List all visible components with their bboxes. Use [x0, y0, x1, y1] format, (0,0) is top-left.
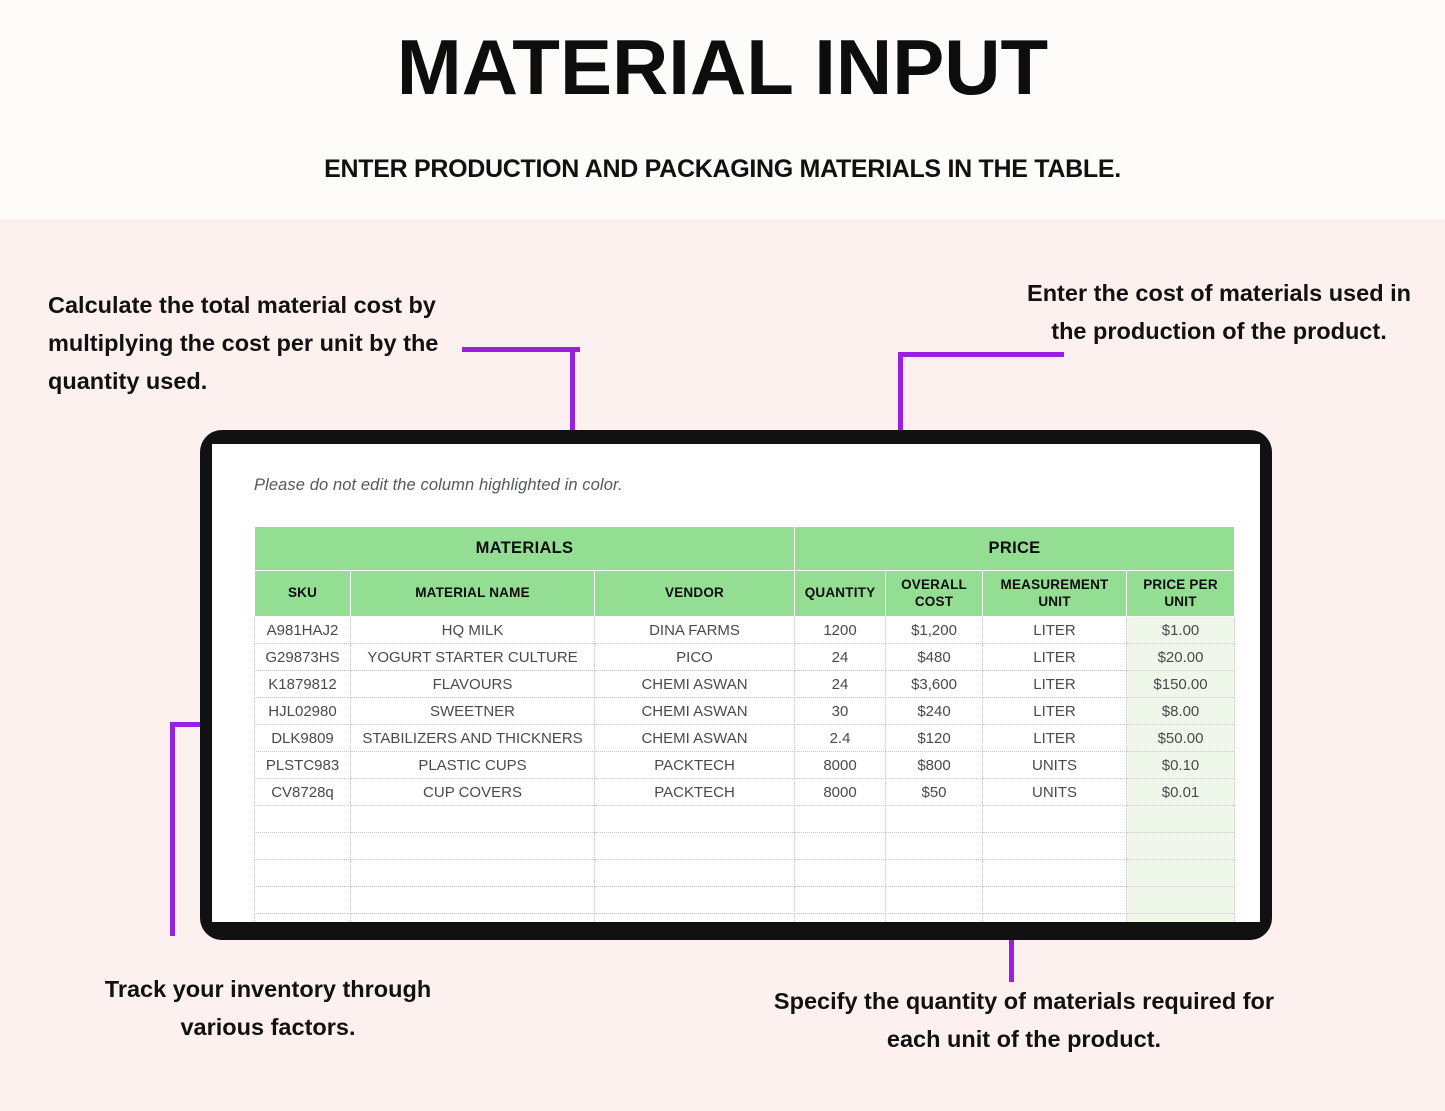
cell-material-name[interactable]: STABILIZERS AND THICKNERS — [351, 725, 595, 752]
table-column-header-row: SKU MATERIAL NAME VENDOR QUANTITY OVERAL… — [255, 571, 1235, 617]
connector-top-left-horizontal — [462, 347, 580, 352]
group-header-price: PRICE — [795, 527, 1235, 571]
table-head: MATERIALS PRICE SKU MATERIAL NAME VENDOR… — [255, 527, 1235, 617]
cell-overall-cost[interactable]: $50 — [886, 779, 983, 806]
cell-overall-cost[interactable]: $240 — [886, 698, 983, 725]
cell-material-name[interactable]: HQ MILK — [351, 617, 595, 644]
cell-quantity[interactable]: 8000 — [795, 752, 886, 779]
cell-vendor[interactable]: PACKTECH — [595, 779, 795, 806]
cell-price-per-unit[interactable]: $50.00 — [1127, 725, 1235, 752]
callout-bottom-left: Track your inventory through various fac… — [60, 970, 476, 1046]
table-body[interactable]: A981HAJ2HQ MILKDINA FARMS1200$1,200LITER… — [255, 617, 1235, 923]
cell-sku[interactable]: DLK9809 — [255, 725, 351, 752]
cell-empty[interactable] — [1127, 833, 1235, 860]
cell-vendor[interactable]: PACKTECH — [595, 752, 795, 779]
group-header-materials: MATERIALS — [255, 527, 795, 571]
cell-empty[interactable] — [595, 806, 795, 833]
cell-empty[interactable] — [886, 914, 983, 923]
callout-top-left: Calculate the total material cost by mul… — [48, 286, 448, 400]
table-row[interactable]: CV8728qCUP COVERSPACKTECH8000$50UNITS$0.… — [255, 779, 1235, 806]
cell-empty[interactable] — [351, 887, 595, 914]
cell-sku[interactable]: G29873HS — [255, 644, 351, 671]
cell-overall-cost[interactable]: $480 — [886, 644, 983, 671]
callout-bottom-right: Specify the quantity of materials requir… — [770, 982, 1278, 1058]
cell-empty[interactable] — [795, 887, 886, 914]
table-row[interactable]: G29873HSYOGURT STARTER CULTUREPICO24$480… — [255, 644, 1235, 671]
cell-quantity[interactable]: 24 — [795, 671, 886, 698]
column-header-vendor[interactable]: VENDOR — [595, 571, 795, 617]
cell-empty[interactable] — [1127, 806, 1235, 833]
cell-empty[interactable] — [795, 806, 886, 833]
spreadsheet-screen[interactable]: Please do not edit the column highlighte… — [212, 444, 1260, 922]
table-row-empty[interactable] — [255, 833, 1235, 860]
column-header-quantity[interactable]: QUANTITY — [795, 571, 886, 617]
connector-bottom-left-vertical — [170, 722, 175, 936]
cell-empty[interactable] — [983, 860, 1127, 887]
cell-empty[interactable] — [255, 860, 351, 887]
column-header-overall-cost[interactable]: OVERALL COST — [886, 571, 983, 617]
cell-empty[interactable] — [351, 806, 595, 833]
cell-empty[interactable] — [1127, 860, 1235, 887]
cell-measurement-unit[interactable]: LITER — [983, 644, 1127, 671]
cell-empty[interactable] — [1127, 914, 1235, 923]
cell-vendor[interactable]: CHEMI ASWAN — [595, 671, 795, 698]
cell-price-per-unit[interactable]: $1.00 — [1127, 617, 1235, 644]
materials-table[interactable]: MATERIALS PRICE SKU MATERIAL NAME VENDOR… — [254, 526, 1235, 922]
cell-measurement-unit[interactable]: UNITS — [983, 752, 1127, 779]
cell-quantity[interactable]: 24 — [795, 644, 886, 671]
cell-empty[interactable] — [983, 833, 1127, 860]
cell-sku[interactable]: K1879812 — [255, 671, 351, 698]
cell-overall-cost[interactable]: $3,600 — [886, 671, 983, 698]
table-row[interactable]: DLK9809STABILIZERS AND THICKNERSCHEMI AS… — [255, 725, 1235, 752]
cell-material-name[interactable]: YOGURT STARTER CULTURE — [351, 644, 595, 671]
cell-empty[interactable] — [1127, 887, 1235, 914]
cell-price-per-unit[interactable]: $0.10 — [1127, 752, 1235, 779]
cell-measurement-unit[interactable]: LITER — [983, 698, 1127, 725]
cell-vendor[interactable]: CHEMI ASWAN — [595, 725, 795, 752]
cell-empty[interactable] — [595, 914, 795, 923]
device-frame: Please do not edit the column highlighte… — [200, 430, 1272, 940]
cell-overall-cost[interactable]: $800 — [886, 752, 983, 779]
table-group-header-row: MATERIALS PRICE — [255, 527, 1235, 571]
cell-empty[interactable] — [795, 914, 886, 923]
cell-empty[interactable] — [595, 860, 795, 887]
table-row[interactable]: HJL02980SWEETNERCHEMI ASWAN30$240LITER$8… — [255, 698, 1235, 725]
cell-empty[interactable] — [595, 833, 795, 860]
cell-material-name[interactable]: PLASTIC CUPS — [351, 752, 595, 779]
page-subtitle: ENTER PRODUCTION AND PACKAGING MATERIALS… — [0, 155, 1445, 184]
cell-overall-cost[interactable]: $1,200 — [886, 617, 983, 644]
cell-sku[interactable]: HJL02980 — [255, 698, 351, 725]
cell-price-per-unit[interactable]: $20.00 — [1127, 644, 1235, 671]
cell-measurement-unit[interactable]: UNITS — [983, 779, 1127, 806]
cell-vendor[interactable]: CHEMI ASWAN — [595, 698, 795, 725]
cell-overall-cost[interactable]: $120 — [886, 725, 983, 752]
cell-sku[interactable]: PLSTC983 — [255, 752, 351, 779]
cell-price-per-unit[interactable]: $8.00 — [1127, 698, 1235, 725]
cell-material-name[interactable]: FLAVOURS — [351, 671, 595, 698]
cell-material-name[interactable]: CUP COVERS — [351, 779, 595, 806]
cell-empty[interactable] — [255, 914, 351, 923]
cell-vendor[interactable]: DINA FARMS — [595, 617, 795, 644]
cell-empty[interactable] — [983, 806, 1127, 833]
table-row-empty[interactable] — [255, 887, 1235, 914]
cell-empty[interactable] — [983, 887, 1127, 914]
cell-empty[interactable] — [595, 887, 795, 914]
cell-quantity[interactable]: 1200 — [795, 617, 886, 644]
cell-empty[interactable] — [351, 914, 595, 923]
cell-measurement-unit[interactable]: LITER — [983, 617, 1127, 644]
cell-empty[interactable] — [983, 914, 1127, 923]
cell-empty[interactable] — [351, 860, 595, 887]
cell-empty[interactable] — [255, 887, 351, 914]
cell-empty[interactable] — [886, 833, 983, 860]
cell-empty[interactable] — [255, 806, 351, 833]
table-row[interactable]: PLSTC983PLASTIC CUPSPACKTECH8000$800UNIT… — [255, 752, 1235, 779]
column-header-material-name[interactable]: MATERIAL NAME — [351, 571, 595, 617]
connector-top-right-horizontal — [898, 352, 1064, 357]
cell-quantity[interactable]: 30 — [795, 698, 886, 725]
header-banner: MATERIAL INPUT ENTER PRODUCTION AND PACK… — [0, 0, 1445, 219]
column-header-measurement-unit[interactable]: MEASUREMENT UNIT — [983, 571, 1127, 617]
cell-quantity[interactable]: 8000 — [795, 779, 886, 806]
spreadsheet-note: Please do not edit the column highlighte… — [254, 476, 623, 495]
cell-empty[interactable] — [255, 833, 351, 860]
table-row[interactable]: A981HAJ2HQ MILKDINA FARMS1200$1,200LITER… — [255, 617, 1235, 644]
cell-price-per-unit[interactable]: $0.01 — [1127, 779, 1235, 806]
cell-empty[interactable] — [795, 833, 886, 860]
cell-vendor[interactable]: PICO — [595, 644, 795, 671]
page-title: MATERIAL INPUT — [0, 28, 1445, 106]
table-row[interactable]: K1879812FLAVOURSCHEMI ASWAN24$3,600LITER… — [255, 671, 1235, 698]
cell-quantity[interactable]: 2.4 — [795, 725, 886, 752]
cell-empty[interactable] — [795, 860, 886, 887]
cell-material-name[interactable]: SWEETNER — [351, 698, 595, 725]
cell-empty[interactable] — [886, 887, 983, 914]
cell-measurement-unit[interactable]: LITER — [983, 671, 1127, 698]
cell-sku[interactable]: CV8728q — [255, 779, 351, 806]
cell-empty[interactable] — [351, 833, 595, 860]
callout-top-right: Enter the cost of materials used in the … — [1020, 274, 1418, 350]
column-header-price-per-unit[interactable]: PRICE PER UNIT — [1127, 571, 1235, 617]
cell-price-per-unit[interactable]: $150.00 — [1127, 671, 1235, 698]
column-header-sku[interactable]: SKU — [255, 571, 351, 617]
cell-measurement-unit[interactable]: LITER — [983, 725, 1127, 752]
table-row-empty[interactable] — [255, 860, 1235, 887]
cell-empty[interactable] — [886, 860, 983, 887]
table-row-empty[interactable] — [255, 806, 1235, 833]
table-row-empty[interactable] — [255, 914, 1235, 923]
cell-sku[interactable]: A981HAJ2 — [255, 617, 351, 644]
cell-empty[interactable] — [886, 806, 983, 833]
